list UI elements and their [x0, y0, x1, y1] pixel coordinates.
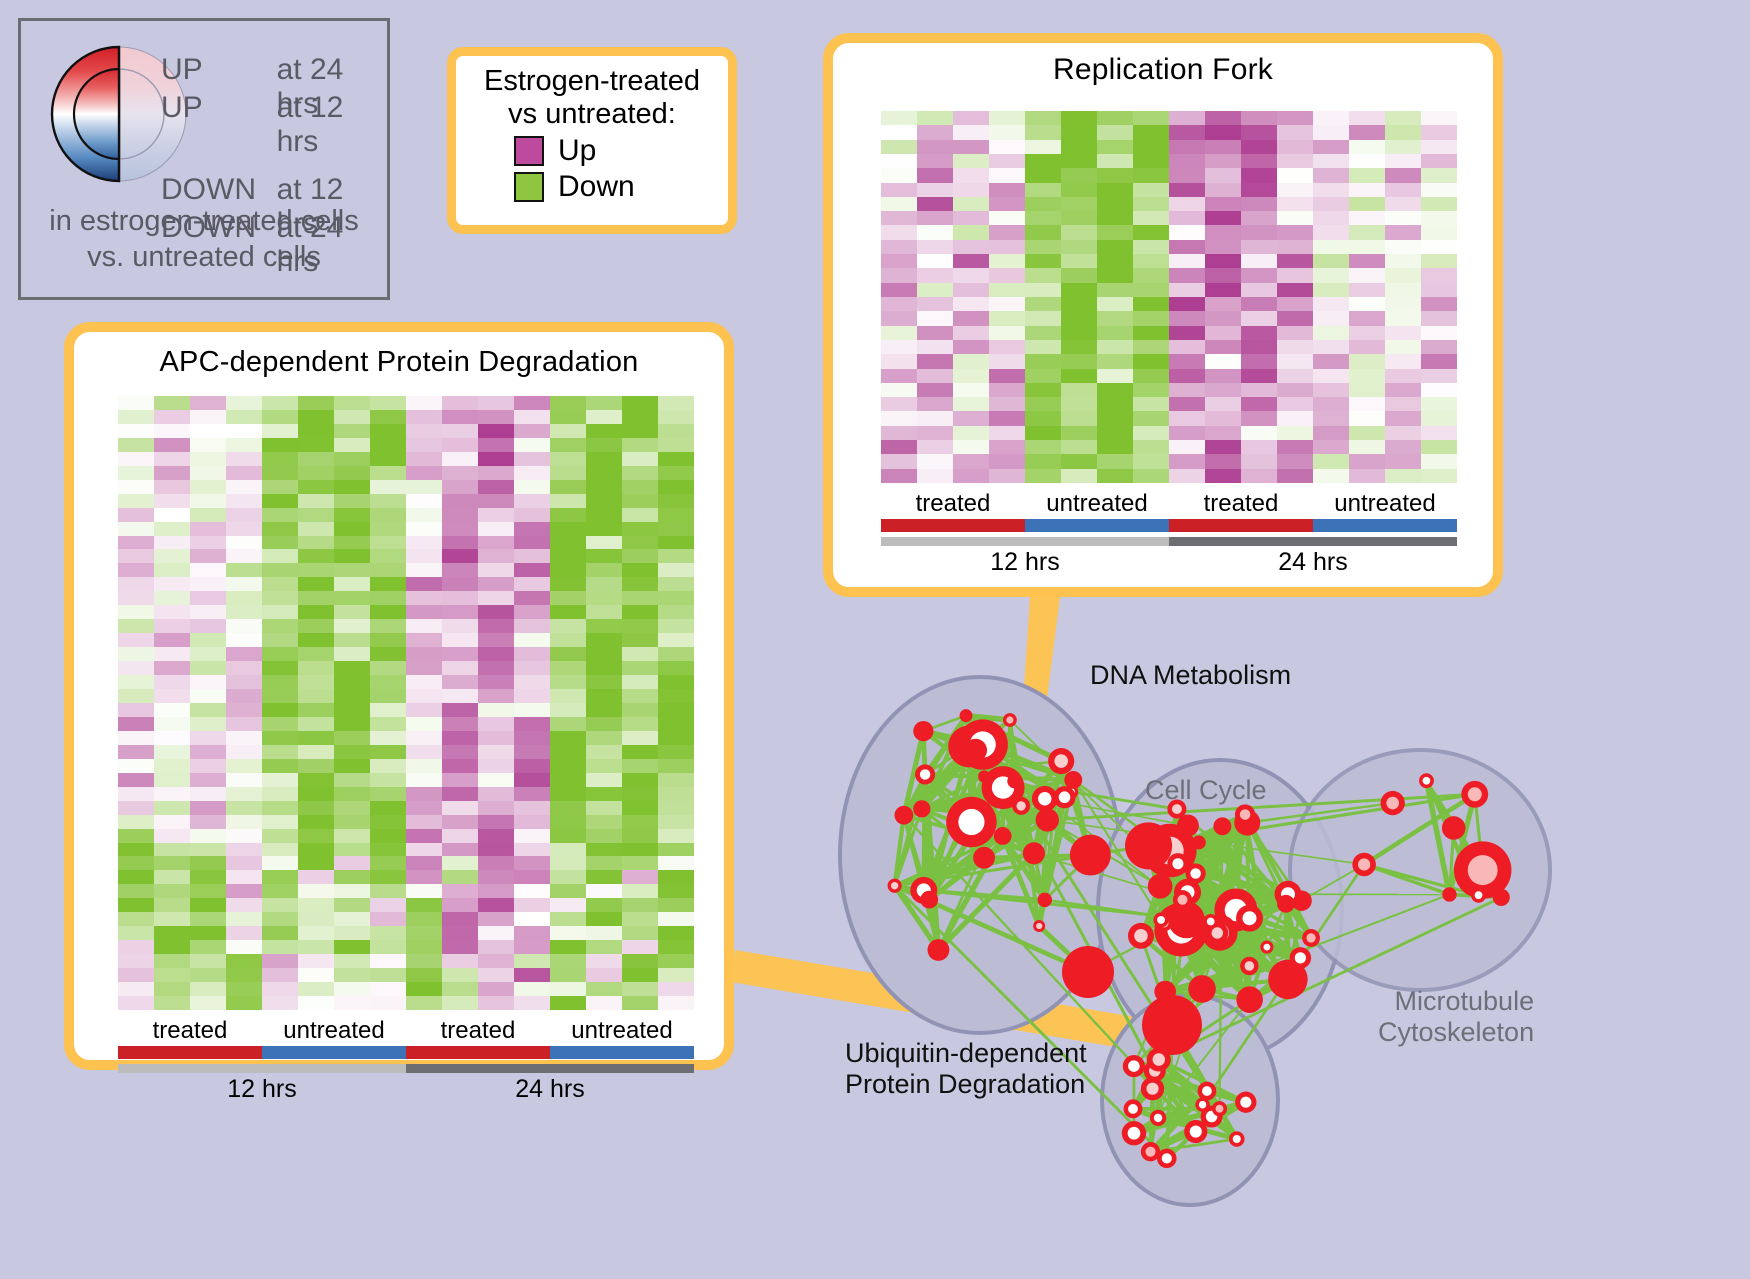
- heatmap-cell: [586, 717, 622, 731]
- heatmap-cell: [406, 898, 442, 912]
- heatmap-cell: [1061, 440, 1097, 454]
- heatmap-cell: [190, 480, 226, 494]
- heatmap-cell: [1025, 154, 1061, 168]
- network-node[interactable]: [1236, 905, 1263, 932]
- heatmap-cell: [1313, 369, 1349, 383]
- heatmap-cell: [478, 591, 514, 605]
- network-node[interactable]: [928, 939, 950, 961]
- heatmap-cell: [442, 843, 478, 857]
- heatmap-cell: [226, 843, 262, 857]
- heatmap-cell: [658, 856, 694, 870]
- network-node[interactable]: [1352, 853, 1376, 877]
- heatmap-cell: [550, 773, 586, 787]
- heatmap-cell: [917, 369, 953, 383]
- network-node[interactable]: [960, 709, 973, 722]
- heatmap-cell: [1061, 140, 1097, 154]
- heatmap-cell: [658, 870, 694, 884]
- heatmap-cell: [298, 396, 334, 410]
- heatmap-cell: [226, 689, 262, 703]
- heatmap-cell: [1205, 383, 1241, 397]
- heatmap-cell: [550, 410, 586, 424]
- heatmap-cell: [478, 801, 514, 815]
- heatmap-cell: [478, 605, 514, 619]
- heatmap-cell: [334, 396, 370, 410]
- heatmap-cell: [370, 591, 406, 605]
- heatmap-cell: [1421, 411, 1457, 425]
- heatmap-cell: [1133, 440, 1169, 454]
- heatmap-cell: [586, 787, 622, 801]
- heatmap-cell: [1421, 340, 1457, 354]
- network-node[interactable]: [1186, 863, 1206, 883]
- heatmap-cell: [298, 647, 334, 661]
- heatmap-cell: [622, 926, 658, 940]
- heatmap-cell: [334, 759, 370, 773]
- heatmap-cell: [262, 745, 298, 759]
- heatmap-cell: [586, 410, 622, 424]
- legend-swatch-down: [514, 172, 544, 202]
- heatmap-cell: [1313, 383, 1349, 397]
- cluster-label-ubiquitin-degradation: Ubiquitin-dependent Protein Degradation: [845, 1038, 1087, 1100]
- heatmap-cell: [190, 591, 226, 605]
- heatmap-cell: [514, 773, 550, 787]
- heatmap-cell: [658, 940, 694, 954]
- heatmap-cell: [190, 787, 226, 801]
- heatmap-cell: [118, 466, 154, 480]
- network-node[interactable]: [1167, 853, 1188, 874]
- heatmap-cell: [478, 787, 514, 801]
- network-node[interactable]: [1203, 914, 1218, 929]
- network-node[interactable]: [1124, 1099, 1143, 1118]
- heatmap-cell: [1133, 183, 1169, 197]
- heatmap-cell: [658, 982, 694, 996]
- heatmap-cell: [442, 689, 478, 703]
- network-node[interactable]: [1461, 781, 1488, 808]
- heatmap-cell: [298, 605, 334, 619]
- heatmap-cell: [1133, 125, 1169, 139]
- heatmap-cell: [1025, 469, 1061, 483]
- heatmap-cell: [406, 647, 442, 661]
- heatmap-cell: [406, 912, 442, 926]
- network-node[interactable]: [1153, 912, 1168, 927]
- network-node[interactable]: [1062, 946, 1114, 998]
- network-node[interactable]: [978, 770, 990, 782]
- network-node[interactable]: [1442, 887, 1456, 901]
- heatmap-cell: [154, 856, 190, 870]
- heatmap-cell: [550, 912, 586, 926]
- heatmap-cell: [622, 856, 658, 870]
- axis-group-label: treated: [881, 491, 1025, 516]
- heatmap-cell: [1133, 426, 1169, 440]
- heatmap-cell: [953, 411, 989, 425]
- legend-item-down: Down: [456, 170, 728, 204]
- heatmap-cell: [1169, 140, 1205, 154]
- heatmap-cell: [1061, 254, 1097, 268]
- network-node[interactable]: [1260, 941, 1273, 954]
- heatmap-cell: [406, 605, 442, 619]
- heatmap-cell: [262, 396, 298, 410]
- heatmap-cell: [442, 996, 478, 1010]
- heatmap-cell: [118, 996, 154, 1010]
- heatmap-cell: [226, 829, 262, 843]
- heatmap-cell: [406, 438, 442, 452]
- axis-time-seg-12: [881, 537, 1169, 546]
- heatmap-cell: [917, 111, 953, 125]
- network-node[interactable]: [1192, 835, 1206, 849]
- network-node[interactable]: [973, 847, 995, 869]
- heatmap-cell: [370, 926, 406, 940]
- heatmap-cell: [586, 773, 622, 787]
- heatmap-cell: [262, 424, 298, 438]
- network-node[interactable]: [1141, 1142, 1160, 1161]
- network-node[interactable]: [1003, 713, 1017, 727]
- heatmap-cell: [550, 856, 586, 870]
- heatmap-cell: [334, 647, 370, 661]
- heatmap-cell: [1025, 383, 1061, 397]
- heatmap-cell: [1097, 154, 1133, 168]
- heatmap-cell: [1313, 211, 1349, 225]
- heatmap-cell: [550, 396, 586, 410]
- heatmap-cell: [406, 815, 442, 829]
- heatmap-cell: [1385, 411, 1421, 425]
- heatmap-cell: [917, 197, 953, 211]
- network-node[interactable]: [1381, 791, 1405, 815]
- network-node[interactable]: [1212, 1101, 1227, 1116]
- heatmap-cell: [298, 801, 334, 815]
- network-node[interactable]: [1148, 874, 1173, 899]
- network-node[interactable]: [1038, 893, 1052, 907]
- heatmap-cell: [1097, 440, 1133, 454]
- heatmap-cell: [226, 745, 262, 759]
- network-node[interactable]: [1235, 1092, 1256, 1113]
- heatmap-cell: [1421, 254, 1457, 268]
- heatmap-cell: [622, 480, 658, 494]
- heatmap-cell: [118, 438, 154, 452]
- network-node[interactable]: [1235, 804, 1255, 824]
- heatmap-cell: [478, 773, 514, 787]
- heatmap-cell: [1061, 268, 1097, 282]
- heatmap-cell: [298, 549, 334, 563]
- heatmap-cell: [586, 452, 622, 466]
- heatmap-cell: [154, 536, 190, 550]
- heatmap-cell: [989, 154, 1025, 168]
- heatmap-cell: [1025, 225, 1061, 239]
- heatmap-cell: [622, 591, 658, 605]
- heatmap-cell: [190, 829, 226, 843]
- axis-group-label: untreated: [1313, 491, 1457, 516]
- heatmap-cell: [1061, 311, 1097, 325]
- heatmap-cell: [1349, 211, 1385, 225]
- heatmap-cell: [406, 717, 442, 731]
- heatmap-cell: [1313, 469, 1349, 483]
- heatmap-cell: [298, 954, 334, 968]
- heatmap-cell: [298, 870, 334, 884]
- heatmap-cell: [586, 549, 622, 563]
- heatmap-cell: [658, 731, 694, 745]
- heatmap-cell: [622, 396, 658, 410]
- network-node[interactable]: [1290, 947, 1312, 969]
- network-node[interactable]: [913, 721, 933, 741]
- heatmap-cell: [298, 773, 334, 787]
- heatmap-cell: [154, 801, 190, 815]
- network-node[interactable]: [1240, 957, 1258, 975]
- heatmap-cell: [1349, 283, 1385, 297]
- heatmap-cell: [622, 731, 658, 745]
- heatmap-cell: [154, 396, 190, 410]
- heatmap-cell: [226, 494, 262, 508]
- network-node[interactable]: [1173, 890, 1192, 909]
- network-node[interactable]: [1048, 748, 1074, 774]
- network-node[interactable]: [1007, 774, 1021, 788]
- heatmap-cell: [953, 154, 989, 168]
- heatmap-cell: [190, 717, 226, 731]
- heatmap-cell: [1241, 197, 1277, 211]
- network-node[interactable]: [946, 797, 996, 847]
- heatmap-cell: [370, 870, 406, 884]
- heatmap-cell: [1349, 469, 1385, 483]
- heatmap-cell: [1205, 225, 1241, 239]
- heatmap-cell: [514, 745, 550, 759]
- heatmap-cell: [550, 787, 586, 801]
- network-node[interactable]: [1122, 1121, 1146, 1145]
- heatmap-cell: [1061, 426, 1097, 440]
- heatmap-cell: [262, 815, 298, 829]
- heatmap-cell: [442, 452, 478, 466]
- heatmap-cell: [1133, 168, 1169, 182]
- heatmap-cell: [406, 661, 442, 675]
- heatmap-cell: [154, 633, 190, 647]
- heatmap-cell: [658, 396, 694, 410]
- heatmap-cell: [1169, 326, 1205, 340]
- heatmap-cell: [370, 633, 406, 647]
- heatmap-cell: [658, 494, 694, 508]
- heatmap-cell: [154, 898, 190, 912]
- heatmap-cell: [586, 577, 622, 591]
- network-node[interactable]: [1229, 1131, 1245, 1147]
- heatmap-cell: [622, 536, 658, 550]
- network-node[interactable]: [1302, 929, 1320, 947]
- heatmap-cell: [1349, 254, 1385, 268]
- heatmap-cell: [1205, 469, 1241, 483]
- heatmap-cell: [226, 410, 262, 424]
- heatmap-cell: [622, 494, 658, 508]
- heatmap-cell: [406, 926, 442, 940]
- heatmap-cell: [1133, 268, 1169, 282]
- heatmap-cell: [1241, 454, 1277, 468]
- heatmap-cell: [514, 787, 550, 801]
- heatmap-cell: [989, 168, 1025, 182]
- heatmap-cell: [190, 982, 226, 996]
- heatmap-cell: [1421, 225, 1457, 239]
- network-node[interactable]: [1442, 816, 1466, 840]
- heatmap-cell: [1349, 426, 1385, 440]
- heatmap-cell: [1205, 411, 1241, 425]
- heatmap-cell: [1169, 411, 1205, 425]
- heatmap-cell: [1169, 283, 1205, 297]
- heatmap-cell: [226, 968, 262, 982]
- heatmap-cell: [1349, 183, 1385, 197]
- network-node[interactable]: [1033, 920, 1045, 932]
- network-node[interactable]: [1141, 1077, 1164, 1100]
- heatmap-cell: [1313, 183, 1349, 197]
- heatmap-cell: [226, 940, 262, 954]
- heatmap-cell: [262, 633, 298, 647]
- network-node[interactable]: [1493, 889, 1510, 906]
- heatmap-cell: [1313, 240, 1349, 254]
- heatmap-cell: [514, 605, 550, 619]
- heatmap-cell: [586, 424, 622, 438]
- axis-seg-treated-24: [1169, 519, 1313, 532]
- heatmap-cell: [622, 689, 658, 703]
- network-node[interactable]: [913, 800, 930, 817]
- heatmap-cell: [262, 703, 298, 717]
- heatmap-cell: [1421, 383, 1457, 397]
- heatmap-cell: [370, 452, 406, 466]
- heatmap-cell: [622, 982, 658, 996]
- network-node[interactable]: [1125, 822, 1172, 869]
- network-node[interactable]: [1032, 786, 1058, 812]
- heatmap-cell: [1241, 125, 1277, 139]
- heatmap-cell: [334, 745, 370, 759]
- network-node[interactable]: [1236, 986, 1263, 1013]
- heatmap-cell: [334, 605, 370, 619]
- heatmap-cell: [406, 703, 442, 717]
- heatmap-cell: [262, 494, 298, 508]
- heatmap-cell: [118, 703, 154, 717]
- network-node[interactable]: [1188, 975, 1216, 1003]
- heatmap-cell: [442, 563, 478, 577]
- heatmap-axis-replication: treated untreated treated untreated 12 h…: [881, 491, 1457, 577]
- heatmap-cell: [1385, 369, 1421, 383]
- heatmap-cell: [514, 549, 550, 563]
- network-node[interactable]: [1070, 835, 1111, 876]
- network-node[interactable]: [1123, 1055, 1145, 1077]
- heatmap-cell: [550, 815, 586, 829]
- network-node[interactable]: [1023, 842, 1045, 864]
- heatmap-cell: [1061, 326, 1097, 340]
- network-node[interactable]: [888, 879, 902, 893]
- heatmap-cell: [1241, 440, 1277, 454]
- heatmap-cell: [917, 340, 953, 354]
- heatmap-cell: [989, 440, 1025, 454]
- heatmap-cell: [1385, 268, 1421, 282]
- heatmap-cell: [370, 801, 406, 815]
- heatmap-cell: [298, 717, 334, 731]
- network-node[interactable]: [894, 806, 913, 825]
- network-node[interactable]: [964, 739, 987, 762]
- network-node[interactable]: [1012, 797, 1030, 815]
- heatmap-cell: [334, 494, 370, 508]
- axis-time-seg-24: [406, 1064, 694, 1073]
- heatmap-cell: [586, 563, 622, 577]
- heatmap-cell: [1133, 140, 1169, 154]
- network-node[interactable]: [1064, 771, 1082, 789]
- heatmap-cell: [622, 870, 658, 884]
- heatmap-cell: [334, 801, 370, 815]
- network-node[interactable]: [994, 827, 1012, 845]
- axis-time-bar: [881, 537, 1457, 546]
- heatmap-cell: [1061, 340, 1097, 354]
- heatmap-cell: [514, 731, 550, 745]
- heatmap-cell: [1385, 283, 1421, 297]
- heatmap-cell: [1277, 369, 1313, 383]
- heatmap-cell: [1061, 469, 1097, 483]
- network-node[interactable]: [915, 764, 935, 784]
- network-node[interactable]: [1471, 888, 1486, 903]
- heatmap-cell: [226, 773, 262, 787]
- network-node[interactable]: [1277, 895, 1295, 913]
- heatmap-cell: [262, 856, 298, 870]
- network-node[interactable]: [920, 891, 938, 909]
- heatmap-cell: [262, 773, 298, 787]
- heatmap-cell: [1133, 326, 1169, 340]
- heatmap-cell: [514, 508, 550, 522]
- heatmap-cell: [550, 982, 586, 996]
- heatmap-cell: [334, 912, 370, 926]
- heatmap-cell: [1169, 168, 1205, 182]
- heatmap-cell: [514, 940, 550, 954]
- heatmap-cell: [514, 815, 550, 829]
- heatmap-cell: [190, 912, 226, 926]
- heatmap-cell: [881, 426, 917, 440]
- heatmap-cell: [1025, 111, 1061, 125]
- heatmap-cell: [1169, 197, 1205, 211]
- heatmap-cell: [442, 438, 478, 452]
- network-node[interactable]: [1150, 1110, 1166, 1126]
- heatmap-cell: [550, 996, 586, 1010]
- heatmap-cell: [550, 745, 586, 759]
- heatmap-cell: [334, 661, 370, 675]
- heatmap-cell: [1385, 469, 1421, 483]
- heatmap-cell: [118, 773, 154, 787]
- heatmap-cell: [298, 926, 334, 940]
- heatmap-cell: [442, 494, 478, 508]
- heatmap-cell: [1025, 283, 1061, 297]
- network-node[interactable]: [1213, 817, 1231, 835]
- network-node[interactable]: [1036, 808, 1059, 831]
- heatmap-cell: [406, 689, 442, 703]
- heatmap-cell: [1025, 168, 1061, 182]
- heatmap-cell: [1097, 197, 1133, 211]
- network-node[interactable]: [1184, 1120, 1207, 1143]
- network-node[interactable]: [1128, 923, 1154, 949]
- heatmap-cell: [1349, 168, 1385, 182]
- network-node[interactable]: [1198, 1082, 1217, 1101]
- heatmap-cell: [190, 689, 226, 703]
- heatmap-cell: [154, 884, 190, 898]
- heatmap-cell: [478, 633, 514, 647]
- heatmap-cell: [586, 689, 622, 703]
- heatmap-cell: [298, 410, 334, 424]
- network-node[interactable]: [1142, 995, 1202, 1055]
- heatmap-cell: [190, 619, 226, 633]
- heatmap-cell: [154, 410, 190, 424]
- heatmap-cell: [1421, 426, 1457, 440]
- heatmap-cell: [881, 154, 917, 168]
- heatmap-cell: [1421, 111, 1457, 125]
- heatmap-cell: [334, 452, 370, 466]
- network-node[interactable]: [1419, 773, 1434, 788]
- cluster-label-microtubule-cytoskeleton: Microtubule Cytoskeleton: [1378, 986, 1534, 1048]
- heatmap-cell: [370, 717, 406, 731]
- heatmap-cell: [262, 801, 298, 815]
- heatmap-cell: [406, 745, 442, 759]
- heatmap-cell: [1097, 225, 1133, 239]
- heatmap-cell: [406, 577, 442, 591]
- heatmap-cell: [118, 647, 154, 661]
- heatmap-cell: [442, 703, 478, 717]
- heatmap-cell: [881, 340, 917, 354]
- heatmap-cell: [406, 549, 442, 563]
